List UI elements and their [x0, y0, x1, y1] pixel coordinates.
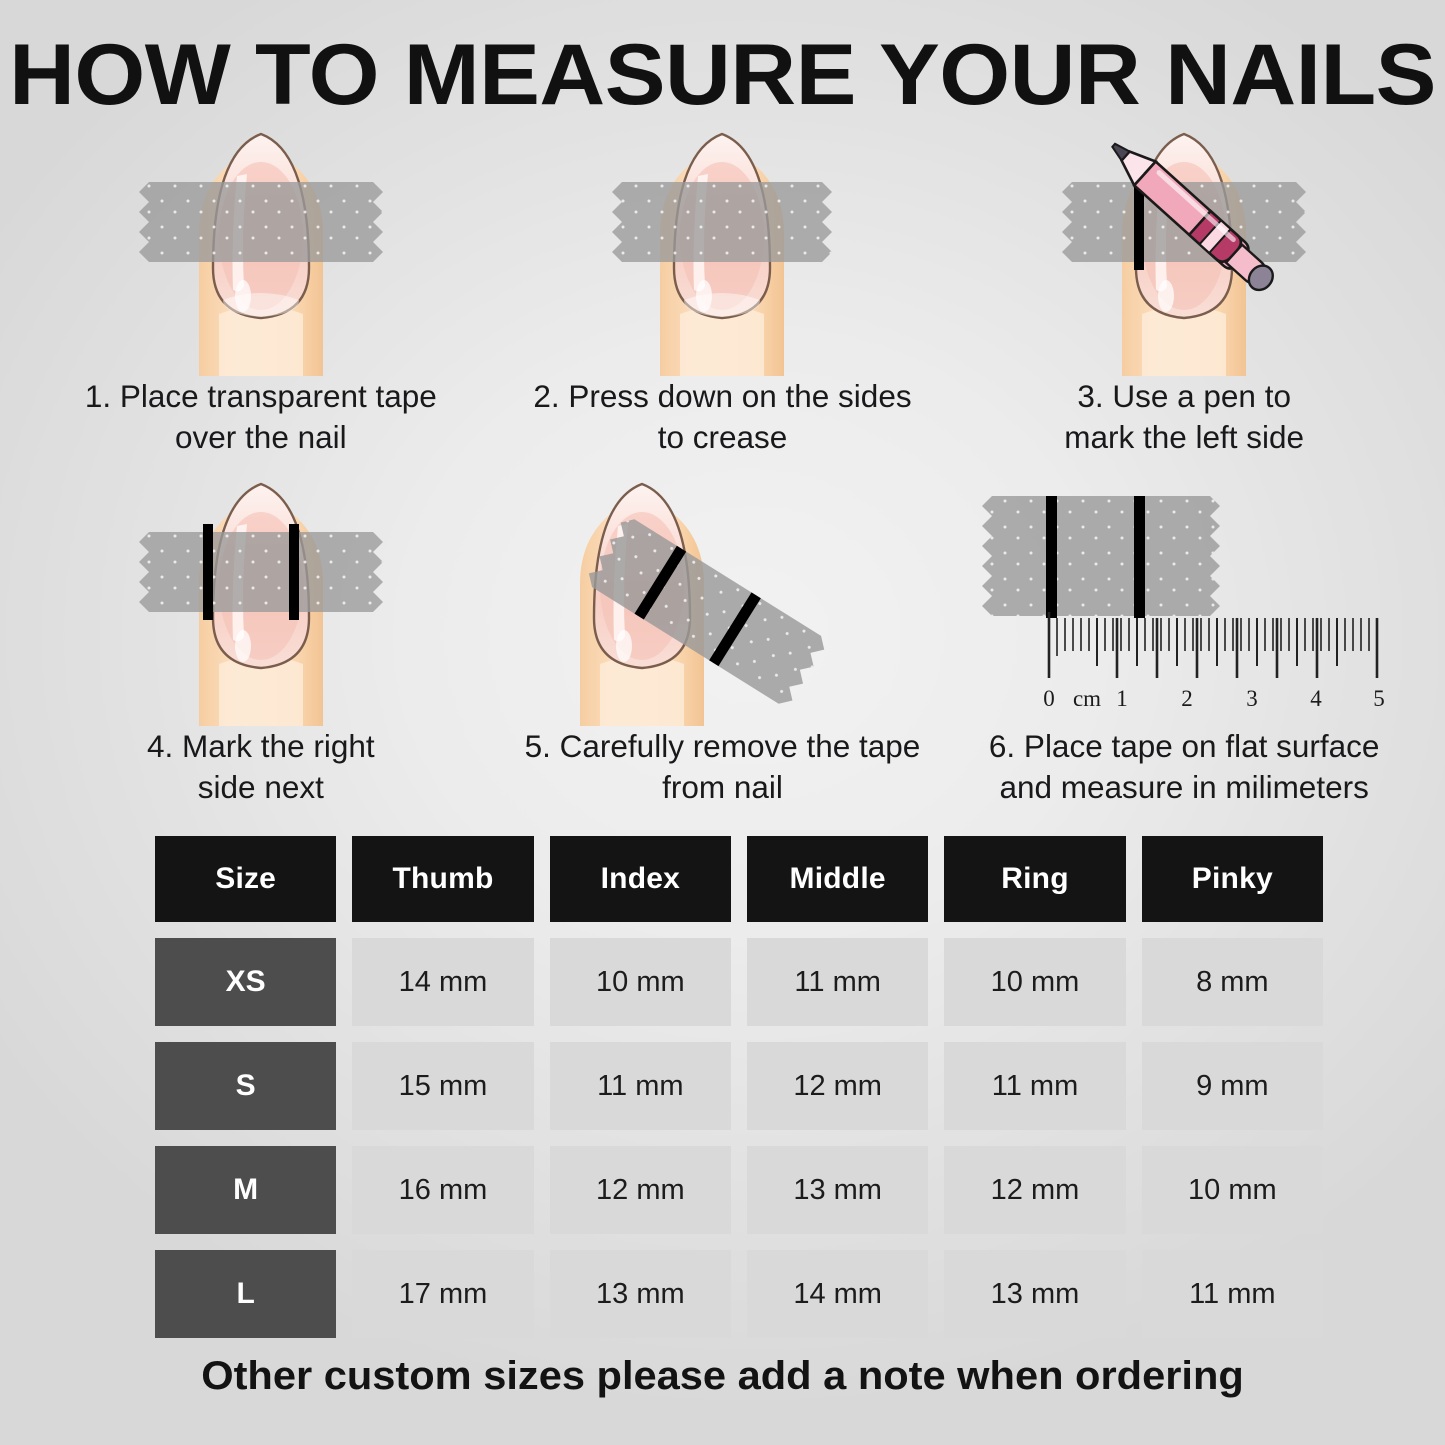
step-2-caption-line2: to crease [658, 419, 788, 455]
step-6-caption: 6. Place tape on flat surface and measur… [953, 726, 1415, 808]
table-row: L 17 mm 13 mm 14 mm 13 mm 11 mm [155, 1250, 1323, 1338]
finger-tape-two-marks-icon [131, 468, 391, 726]
cell-s-ring: 11 mm [944, 1042, 1125, 1130]
step-3-caption-line1: 3. Use a pen to [1077, 378, 1291, 414]
table-header-thumb: Thumb [352, 836, 533, 922]
cell-l-index: 13 mm [550, 1250, 731, 1338]
ruler-tick-4: 4 [1310, 686, 1322, 711]
step-5-caption: 5. Carefully remove the tape from nail [492, 726, 954, 808]
step-1-caption: 1. Place transparent tape over the nail [30, 376, 492, 458]
cell-s-index: 11 mm [550, 1042, 731, 1130]
step-2: 2. Press down on the sides to crease [492, 118, 954, 468]
cell-l-thumb: 17 mm [352, 1250, 533, 1338]
tape [139, 532, 383, 612]
ruler-tick-0: 0 [1043, 686, 1055, 711]
cell-xs-ring: 10 mm [944, 938, 1125, 1026]
cell-m-middle: 13 mm [747, 1146, 928, 1234]
step-6-illustration: 0 cm 1 2 3 4 5 [953, 468, 1415, 726]
tape [139, 182, 383, 262]
size-label-m: M [155, 1146, 336, 1234]
step-4-caption-line1: 4. Mark the right [147, 728, 375, 764]
ruler-unit-label: cm [1073, 686, 1101, 711]
size-table: Size Thumb Index Middle Ring Pinky XS 14… [155, 836, 1323, 1338]
table-row: S 15 mm 11 mm 12 mm 11 mm 9 mm [155, 1042, 1323, 1130]
finger-with-creased-tape-icon [592, 118, 852, 376]
step-4-caption: 4. Mark the right side next [30, 726, 492, 808]
table-row: XS 14 mm 10 mm 11 mm 10 mm 8 mm [155, 938, 1323, 1026]
step-1-illustration [30, 118, 492, 376]
finger-with-tape-icon [131, 118, 391, 376]
right-mark [289, 524, 299, 620]
tape-peeled-off-nail-icon [522, 468, 922, 726]
step-5-caption-line2: from nail [662, 769, 783, 805]
tape-on-ruler-icon: 0 cm 1 2 3 4 5 [974, 468, 1394, 726]
ruler-tick-1: 1 [1116, 686, 1128, 711]
right-mark [1134, 496, 1145, 618]
steps-grid: 1. Place transparent tape over the nail [30, 118, 1415, 818]
step-5: 5. Carefully remove the tape from nail [492, 468, 954, 818]
step-6: 0 cm 1 2 3 4 5 6. Place tape on flat sur… [953, 468, 1415, 818]
finger-tape-pen-left-mark-icon [1039, 118, 1329, 376]
table-header-index: Index [550, 836, 731, 922]
cell-s-thumb: 15 mm [352, 1042, 533, 1130]
table-header-middle: Middle [747, 836, 928, 922]
step-2-caption-line1: 2. Press down on the sides [533, 378, 911, 414]
size-label-l: L [155, 1250, 336, 1338]
ruler-labels: 0 cm 1 2 3 4 5 [1043, 686, 1385, 711]
tape-creased [612, 182, 832, 262]
infographic-page: HOW TO MEASURE YOUR NAILS [0, 0, 1445, 1445]
page-title: HOW TO MEASURE YOUR NAILS [0, 26, 1445, 125]
size-label-s: S [155, 1042, 336, 1130]
table-row: M 16 mm 12 mm 13 mm 12 mm 10 mm [155, 1146, 1323, 1234]
cell-m-index: 12 mm [550, 1146, 731, 1234]
table-header-ring: Ring [944, 836, 1125, 922]
step-4-illustration [30, 468, 492, 726]
cell-m-ring: 12 mm [944, 1146, 1125, 1234]
cell-l-pinky: 11 mm [1142, 1250, 1323, 1338]
ruler-tick-5: 5 [1373, 686, 1385, 711]
step-4: 4. Mark the right side next [30, 468, 492, 818]
step-1-caption-line1: 1. Place transparent tape [85, 378, 437, 414]
step-6-caption-line1: 6. Place tape on flat surface [989, 728, 1380, 764]
cell-s-pinky: 9 mm [1142, 1042, 1323, 1130]
step-5-illustration [492, 468, 954, 726]
ruler-tick-3: 3 [1246, 686, 1258, 711]
step-3-caption-line2: mark the left side [1064, 419, 1304, 455]
step-2-caption: 2. Press down on the sides to crease [492, 376, 954, 458]
left-mark [1046, 496, 1057, 618]
cell-l-middle: 14 mm [747, 1250, 928, 1338]
cell-xs-middle: 11 mm [747, 938, 928, 1026]
size-label-xs: XS [155, 938, 336, 1026]
step-3: 3. Use a pen to mark the left side [953, 118, 1415, 468]
step-6-caption-line2: and measure in milimeters [999, 769, 1368, 805]
left-mark [203, 524, 213, 620]
ruler-tick-2: 2 [1181, 686, 1193, 711]
step-1-caption-line2: over the nail [175, 419, 347, 455]
step-5-caption-line1: 5. Carefully remove the tape [525, 728, 921, 764]
cell-m-thumb: 16 mm [352, 1146, 533, 1234]
step-3-illustration [953, 118, 1415, 376]
step-2-illustration [492, 118, 954, 376]
table-header-row: Size Thumb Index Middle Ring Pinky [155, 836, 1323, 922]
cell-l-ring: 13 mm [944, 1250, 1125, 1338]
footer-note: Other custom sizes please add a note whe… [0, 1354, 1445, 1399]
cell-xs-pinky: 8 mm [1142, 938, 1323, 1026]
step-3-caption: 3. Use a pen to mark the left side [953, 376, 1415, 458]
cell-m-pinky: 10 mm [1142, 1146, 1323, 1234]
ruler [1049, 612, 1377, 678]
table-header-size: Size [155, 836, 336, 922]
cell-xs-index: 10 mm [550, 938, 731, 1026]
cell-xs-thumb: 14 mm [352, 938, 533, 1026]
step-4-caption-line2: side next [198, 769, 324, 805]
cell-s-middle: 12 mm [747, 1042, 928, 1130]
tape-on-surface [982, 496, 1220, 618]
step-1: 1. Place transparent tape over the nail [30, 118, 492, 468]
table-header-pinky: Pinky [1142, 836, 1323, 922]
